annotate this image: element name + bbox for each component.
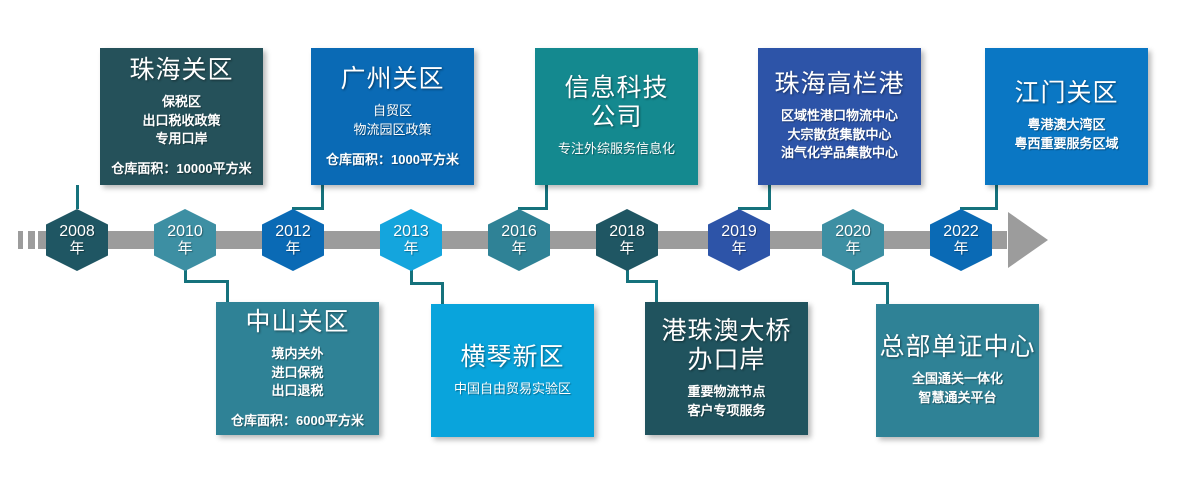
card-subtitle-group: 专注外综服务信息化 [558,140,675,159]
card-subtitle-group: 全国通关一体化智慧通关平台 [912,370,1003,408]
node-year-unit: 年 [69,241,84,256]
connector-2012-horiz [292,207,323,210]
timeline-start-dash-1 [28,231,35,249]
card-title: 珠海高栏港 [774,70,904,99]
card-subtitle-line: 进口保税 [271,364,323,383]
card-subtitle-line: 物流园区政策 [353,121,431,140]
card-subtitle-line: 出口退税 [271,382,323,401]
connector-2013-horiz [410,282,443,285]
card-subtitle-group: 自贸区物流园区政策 [353,102,431,140]
play-arrow-icon [1008,212,1048,268]
connector-2022-horiz [960,207,997,210]
timeline-start-dash-2 [18,231,23,249]
card-subtitle-line: 境内关外 [271,345,323,364]
connector-2019-stub [768,185,771,210]
node-year-unit: 年 [953,241,968,256]
timeline-end-dash [997,231,1007,249]
timeline-node-2013[interactable]: 2013年 [380,209,442,271]
connector-2019-horiz [738,207,770,210]
card-subtitle-line: 粤港澳大湾区 [1014,116,1118,135]
card-subtitle-line: 智慧通关平台 [912,389,1003,408]
node-year-label: 2012 [275,224,311,240]
connector-2016-stub [545,185,548,210]
card-subtitle-line: 油气化学品集散中心 [781,144,898,163]
card-title: 中山关区 [245,308,349,337]
timeline-node-2018[interactable]: 2018年 [596,209,658,271]
card-subtitle-line: 大宗散货集散中心 [781,126,898,145]
card-subtitle-line: 中国自由贸易实验区 [454,380,571,399]
timeline-node-2016[interactable]: 2016年 [488,209,550,271]
card-subtitle-line: 区域性港口物流中心 [781,107,898,126]
connector-2020-stub [886,282,889,304]
node-year-label: 2010 [167,224,203,240]
card-subtitle-group: 重要物流节点客户专项服务 [687,383,765,421]
info-card-zhuhai-gaolan-port[interactable]: 珠海高栏港区域性港口物流中心大宗散货集散中心油气化学品集散中心 [758,48,921,185]
node-year-label: 2008 [59,224,95,240]
node-year-unit: 年 [619,241,634,256]
node-year-unit: 年 [845,241,860,256]
card-subtitle-line: 专用口岸 [142,130,220,149]
node-year-label: 2022 [943,224,979,240]
info-card-info-tech-company[interactable]: 信息科技 公司专注外综服务信息化 [535,48,698,185]
info-card-zhongshan-customs[interactable]: 中山关区境内关外进口保税出口退税仓库面积：6000平方米 [216,302,379,435]
card-title: 总部单证中心 [879,333,1035,362]
connector-2012-stub [321,185,324,210]
node-year-label: 2018 [609,224,645,240]
card-subtitle-line: 粤西重要服务区域 [1014,135,1118,154]
node-year-unit: 年 [731,241,746,256]
card-title: 珠海关区 [129,56,233,85]
node-year-unit: 年 [403,241,418,256]
connector-2010-stub [226,280,229,302]
node-year-unit: 年 [285,241,300,256]
connector-2022-stub [995,185,998,210]
info-card-hq-document-center[interactable]: 总部单证中心全国通关一体化智慧通关平台 [876,304,1039,437]
card-subtitle-line: 客户专项服务 [687,402,765,421]
info-card-jiangmen-customs[interactable]: 江门关区粤港澳大湾区粤西重要服务区域 [985,48,1148,185]
card-subtitle-group: 境内关外进口保税出口退税 [271,345,323,402]
timeline-node-2019[interactable]: 2019年 [708,209,770,271]
connector-2020-horiz [852,282,888,285]
info-card-hengqin-new-area[interactable]: 横琴新区中国自由贸易实验区 [431,304,594,437]
card-subtitle-line: 保税区 [142,93,220,112]
connector-2018-stub [655,280,658,302]
card-warehouse-note: 仓库面积：10000平方米 [111,158,251,177]
card-title: 江门关区 [1014,79,1118,108]
node-year-unit: 年 [511,241,526,256]
card-subtitle-line: 重要物流节点 [687,383,765,402]
card-subtitle-line: 出口税收政策 [142,112,220,131]
info-card-hzm-bridge-port[interactable]: 港珠澳大桥 办口岸重要物流节点客户专项服务 [645,302,808,435]
timeline-node-2010[interactable]: 2010年 [154,209,216,271]
card-warehouse-note: 仓库面积：1000平方米 [326,149,459,168]
info-card-guangzhou-customs[interactable]: 广州关区自贸区物流园区政策仓库面积：1000平方米 [311,48,474,185]
card-subtitle-group: 区域性港口物流中心大宗散货集散中心油气化学品集散中心 [781,107,898,164]
info-card-zhuhai-customs[interactable]: 珠海关区保税区出口税收政策专用口岸仓库面积：10000平方米 [100,48,263,185]
timeline-node-2022[interactable]: 2022年 [930,209,992,271]
timeline-node-2020[interactable]: 2020年 [822,209,884,271]
timeline-node-2012[interactable]: 2012年 [262,209,324,271]
card-title: 信息科技 公司 [564,74,668,132]
card-subtitle-group: 中国自由贸易实验区 [454,380,571,399]
card-title: 横琴新区 [460,343,564,372]
card-subtitle-line: 全国通关一体化 [912,370,1003,389]
connector-2016-horiz [518,207,547,210]
card-subtitle-line: 专注外综服务信息化 [558,140,675,159]
node-year-label: 2013 [393,224,429,240]
connector-2010-horiz [184,280,228,283]
card-subtitle-line: 自贸区 [353,102,431,121]
node-year-label: 2020 [835,224,871,240]
node-year-label: 2019 [721,224,757,240]
timeline-node-2008[interactable]: 2008年 [46,209,108,271]
connector-2008 [76,185,79,209]
card-title: 港珠澳大桥 办口岸 [661,317,791,375]
timeline-infographic: 2008年2010年2012年2013年2016年2018年2019年2020年… [0,0,1200,500]
card-subtitle-group: 保税区出口税收政策专用口岸 [142,93,220,150]
connector-2018-horiz [626,280,657,283]
card-warehouse-note: 仓库面积：6000平方米 [231,410,364,429]
node-year-label: 2016 [501,224,537,240]
card-title: 广州关区 [340,65,444,94]
node-year-unit: 年 [177,241,192,256]
card-subtitle-group: 粤港澳大湾区粤西重要服务区域 [1014,116,1118,154]
connector-2013-stub [441,282,444,304]
